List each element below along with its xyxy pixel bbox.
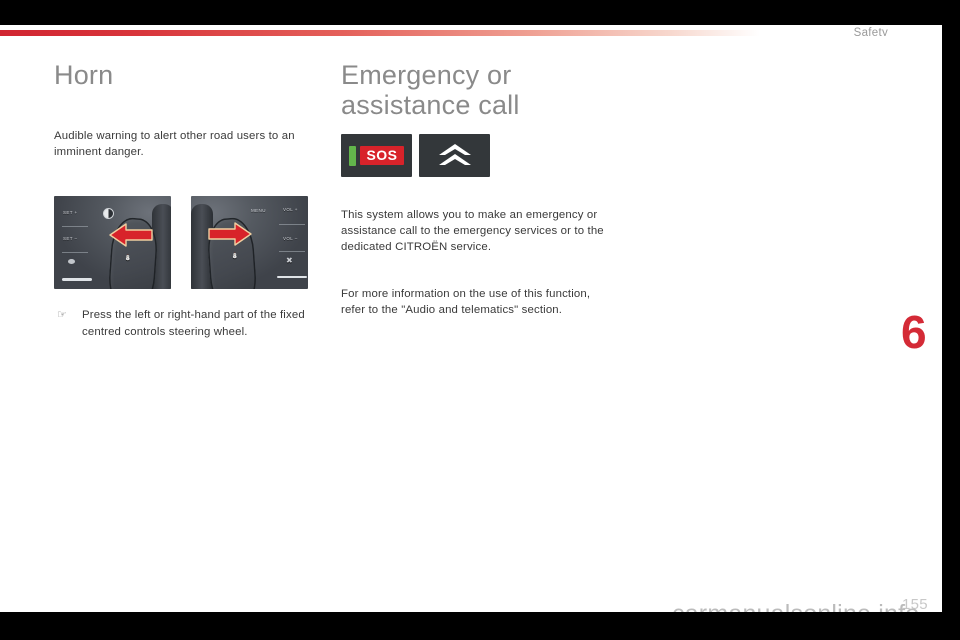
divider-line-2 (279, 251, 305, 252)
emergency-section-title: Emergency or assistance call (341, 60, 607, 120)
emergency-icon-row: SOS (341, 134, 607, 177)
left-column: Horn Audible warning to alert other road… (54, 60, 320, 340)
photo-right-steering-controls: MENU VOL + VOL – ✖ ⛄ (191, 196, 308, 289)
label-set-plus: SET + (63, 210, 78, 215)
label-menu: MENU (251, 208, 266, 213)
divider-line-1 (62, 226, 88, 227)
green-status-bar-icon (349, 146, 356, 166)
lower-trim-bar (62, 278, 92, 281)
label-set-minus: SET – (63, 236, 77, 241)
horn-intro-text: Audible warning to alert other road user… (54, 128, 320, 160)
pointing-hand-icon: ☞ (54, 307, 82, 323)
horn-instruction-bullet: ☞ Press the left or right-hand part of t… (54, 307, 320, 339)
photo-left-steering-controls: SET + SET – ⛄ (54, 196, 171, 289)
divider-line-2 (62, 252, 88, 253)
citroen-logo-icon (419, 134, 490, 177)
citroen-chevrons-icon (438, 143, 472, 169)
horn-instruction-text: Press the left or right-hand part of the… (82, 307, 320, 339)
mute-icon: ✖ (286, 256, 293, 265)
emergency-paragraph-2: For more information on the use of this … (341, 286, 607, 318)
top-frame-bar (0, 0, 960, 25)
bottom-frame-bar (0, 612, 960, 640)
red-arrow-pointing-left (108, 222, 154, 248)
right-column: Emergency or assistance call SOS This sy… (341, 60, 607, 318)
sos-badge-label: SOS (360, 146, 403, 165)
horn-icon-left: ⛄ (124, 254, 131, 261)
divider-line-1 (279, 224, 305, 225)
emergency-paragraph-1: This system allows you to make an emerge… (341, 207, 607, 256)
contrast-icon (103, 208, 114, 219)
label-vol-plus: VOL + (283, 207, 298, 212)
label-vol-minus: VOL – (283, 236, 298, 241)
steering-wheel-photo-pair: SET + SET – ⛄ MENU VOL + VOL – (54, 196, 320, 289)
horn-icon-right: ⛄ (231, 252, 238, 259)
manual-page: Horn Audible warning to alert other road… (0, 36, 942, 612)
horn-section-title: Horn (54, 60, 320, 90)
pause-icon (68, 259, 75, 264)
red-arrow-pointing-right (207, 221, 253, 247)
chapter-tab: 6 (901, 305, 943, 359)
sos-call-icon: SOS (341, 134, 412, 177)
chapter-number: 6 (901, 305, 926, 359)
lower-trim-bar (277, 276, 307, 278)
right-frame-bar (942, 0, 960, 640)
